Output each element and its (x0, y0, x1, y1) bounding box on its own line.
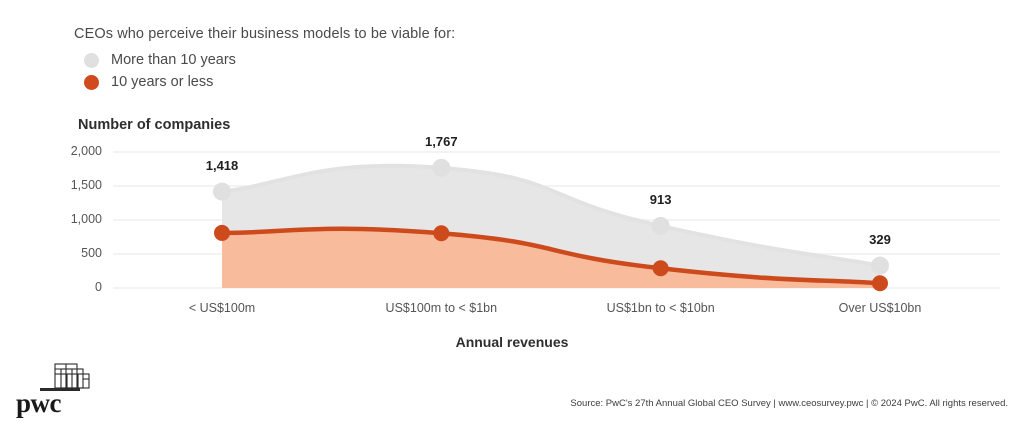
data-point-label: 329 (869, 232, 891, 247)
data-point-marker[interactable] (213, 183, 231, 201)
data-point-label: 913 (650, 192, 672, 207)
x-axis-tick-label: US$1bn to < $10bn (607, 301, 715, 315)
x-axis-title: Annual revenues (0, 334, 1024, 350)
data-point-marker[interactable] (653, 260, 669, 276)
data-point-label: 1,767 (425, 134, 458, 149)
y-axis-tick-label: 1,000 (40, 212, 102, 226)
x-axis-tick-label: US$100m to < $1bn (386, 301, 498, 315)
data-point-marker[interactable] (432, 159, 450, 177)
data-point-marker[interactable] (872, 275, 888, 291)
y-axis-tick-label: 500 (40, 246, 102, 260)
data-point-marker[interactable] (433, 225, 449, 241)
y-axis-tick-label: 0 (40, 280, 102, 294)
data-point-marker[interactable] (871, 257, 889, 275)
x-axis-tick-label: < US$100m (189, 301, 255, 315)
data-point-marker[interactable] (214, 225, 230, 241)
data-point-marker[interactable] (652, 217, 670, 235)
pwc-wordmark: pwc (16, 388, 61, 419)
footer-source-text: Source: PwC's 27th Annual Global CEO Sur… (570, 398, 1008, 409)
chart-canvas (0, 0, 1024, 421)
x-axis-tick-label: Over US$10bn (839, 301, 922, 315)
y-axis-tick-label: 1,500 (40, 178, 102, 192)
y-axis-tick-label: 2,000 (40, 144, 102, 158)
data-point-label: 1,418 (206, 158, 239, 173)
chart-plot-area: 05001,0001,5002,000 < US$100mUS$100m to … (0, 0, 1024, 421)
